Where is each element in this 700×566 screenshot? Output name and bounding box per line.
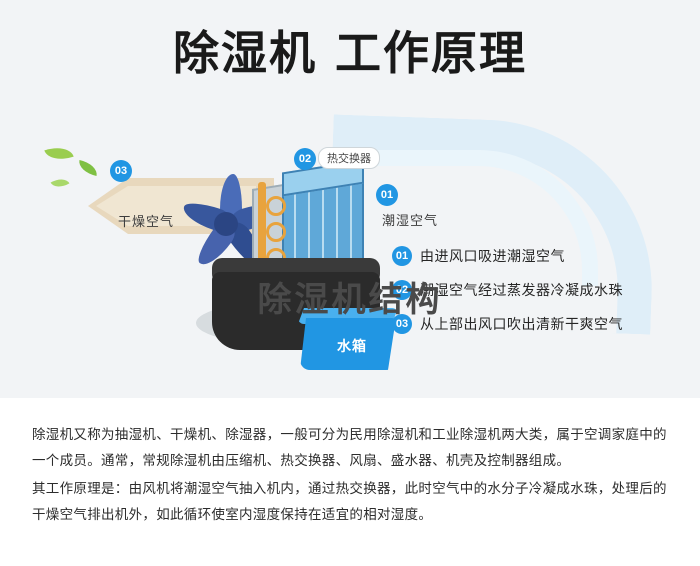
step-item: 01 由进风口吸进潮湿空气 [392, 246, 692, 266]
description-paragraph-2: 其工作原理是：由风机将潮湿空气抽入机内，通过热交换器，此时空气中的水分子冷凝成水… [32, 476, 672, 528]
coil-icon [266, 222, 286, 242]
water-tank-label: 水箱 [322, 336, 382, 356]
page-root: 除湿机 工作原理 干燥空气 [0, 0, 700, 566]
step-number: 01 [392, 246, 412, 266]
description-paragraph-1: 除湿机又称为抽湿机、干燥机、除湿器，一般可分为民用除湿机和工业除湿机两大类，属于… [32, 422, 672, 474]
leaf-icon [77, 160, 99, 176]
illustration-panel: 除湿机 工作原理 干燥空气 [0, 0, 700, 398]
fan-hub [214, 212, 238, 236]
leaf-icon [44, 142, 73, 164]
watermark-text: 除湿机结构 [0, 272, 700, 321]
page-title: 除湿机 工作原理 [0, 22, 700, 84]
coil-icon [266, 196, 286, 216]
description-section: 除湿机又称为抽湿机、干燥机、除湿器，一般可分为民用除湿机和工业除湿机两大类，属于… [0, 404, 700, 566]
heat-exchanger-tag: 热交换器 [318, 147, 380, 169]
illustration-canvas: 除湿机 工作原理 干燥空气 [0, 0, 700, 398]
step-text: 由进风口吸进潮湿空气 [420, 246, 565, 266]
wet-air-label: 潮湿空气 [382, 210, 438, 229]
badge-02: 02 [294, 148, 316, 170]
badge-01: 01 [376, 184, 398, 206]
badge-03: 03 [110, 160, 132, 182]
leaf-icon [51, 175, 70, 192]
